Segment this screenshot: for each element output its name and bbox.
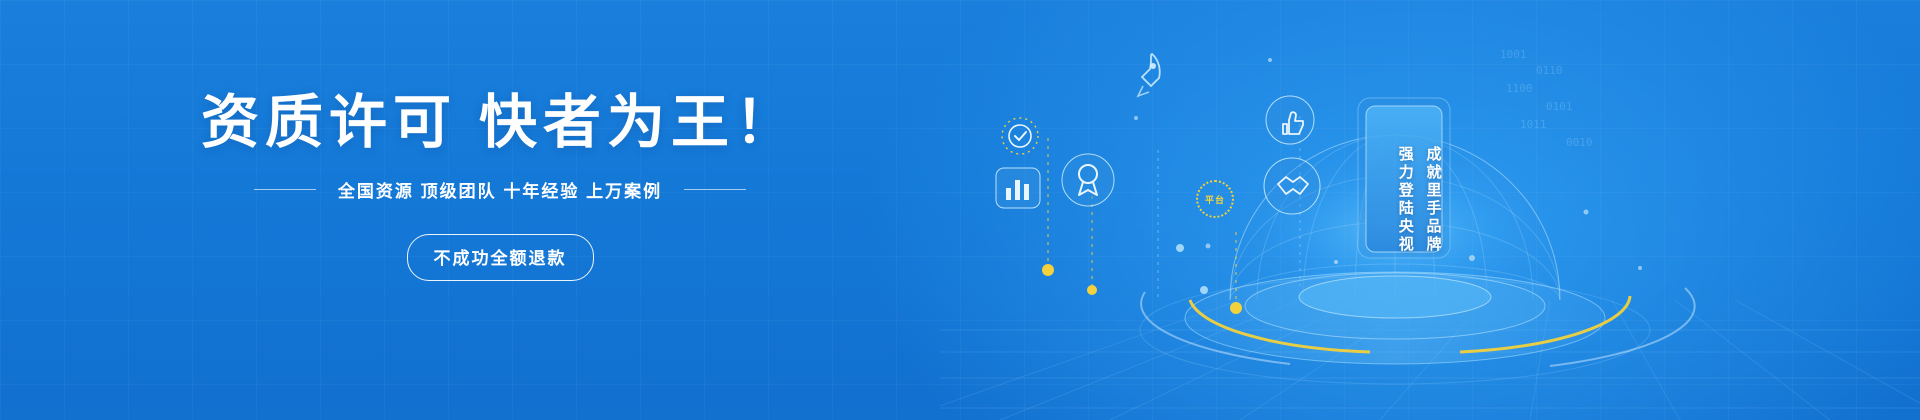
copy-block: 资质许可 快者为王！ 全国资源 顶级团队 十年经验 上万案例 不成功全额退款 [0, 92, 1000, 281]
check-circle-icon [1002, 118, 1038, 154]
subtitle-text: 全国资源 顶级团队 十年经验 上万案例 [338, 177, 662, 202]
device-slogan-left: 强力登陆央视 [1395, 146, 1414, 254]
thumbs-up-icon [1266, 96, 1314, 144]
subtitle-row: 全国资源 顶级团队 十年经验 上万案例 [0, 177, 1000, 202]
svg-text:0010: 0010 [1566, 136, 1593, 149]
svg-text:1011: 1011 [1520, 118, 1547, 131]
guarantee-button[interactable]: 不成功全额退款 [407, 234, 594, 281]
chart-icon [996, 168, 1040, 208]
svg-text:1001: 1001 [1500, 48, 1527, 61]
divider-right [684, 189, 746, 190]
divider-left [254, 189, 316, 190]
podium [1140, 272, 1650, 384]
page-title: 资质许可 快者为王！ [0, 92, 1000, 153]
svg-text:1100: 1100 [1506, 82, 1533, 95]
device-slogan-right: 成就里手品牌 [1423, 146, 1442, 254]
device-slogan: 成就里手品牌 强力登陆央视 [1395, 146, 1442, 254]
svg-text:0110: 0110 [1536, 64, 1563, 77]
platform-badge: 平台 [1196, 180, 1234, 218]
rocket-icon [1138, 54, 1160, 96]
cta-container: 不成功全额退款 [0, 234, 1000, 281]
svg-text:0101: 0101 [1546, 100, 1573, 113]
promo-banner: 资质许可 快者为王！ 全国资源 顶级团队 十年经验 上万案例 不成功全额退款 [0, 0, 1920, 420]
handshake-icon [1264, 158, 1320, 214]
medal-icon [1062, 154, 1114, 206]
binary-texture: 1001 0110 1100 0101 1011 0010 [1500, 48, 1593, 149]
